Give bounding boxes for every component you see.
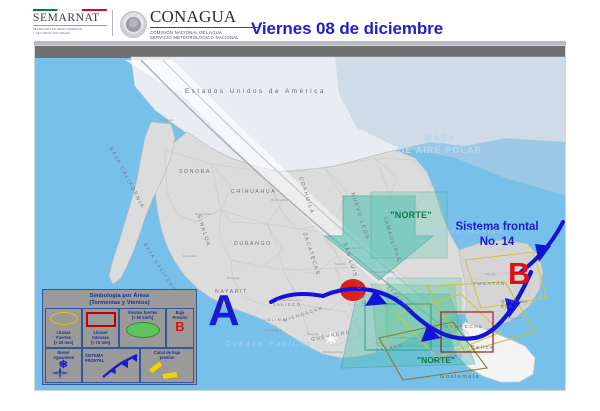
- compass-rose: N: [48, 362, 72, 384]
- legend-li-l3: (> 75 mm): [91, 340, 110, 345]
- page-title: Viernes 08 de diciembre: [251, 19, 443, 39]
- wind-area-veracruz: [387, 278, 461, 338]
- conagua-subtitle-2: SERVICIO METEOROLÓGICO NACIONAL: [150, 35, 258, 40]
- mexican-flag-stripe-icon: [33, 9, 107, 11]
- semarnat-rule: [33, 25, 107, 26]
- city-label-guadalajara: Guadalajara: [263, 328, 282, 332]
- city-label-culiacan: Culiacán: [183, 254, 197, 258]
- semarnat-subtitle-1: SECRETARÍA DE MEDIO AMBIENTE: [33, 28, 107, 31]
- city-label-aguascalientes: Aguascalientes: [277, 298, 301, 302]
- legend-item-canal-baja-presion[interactable]: Canal de baja presión: [140, 348, 194, 383]
- header-divider: [112, 10, 113, 36]
- low-pressure-b-icon: B: [167, 320, 193, 333]
- legend-item-baja-presion[interactable]: Baja Presión B: [166, 308, 194, 348]
- city-label-monterrey: Monterrey: [347, 246, 363, 250]
- heavy-rain-ellipse-icon: [50, 312, 78, 325]
- state-label-quintana-roo: QUINTANA ROO: [501, 299, 533, 309]
- frontal-system-line2: No. 14: [480, 236, 515, 248]
- page-header: SEMARNAT SECRETARÍA DE MEDIO AMBIENTE Y …: [0, 0, 600, 46]
- conagua-logo: CONAGUA COMISIÓN NACIONAL DEL AGUA SERVI…: [150, 8, 258, 40]
- city-label-chilpancingo: Chilpancingo: [323, 350, 343, 354]
- strong-wind-ellipse-icon: [126, 322, 160, 338]
- country-label-estados-unidos: Estados Unidos de América: [185, 88, 326, 95]
- state-label-campeche: CAMPECHE: [445, 324, 484, 329]
- coat-of-arms-inner: [126, 17, 141, 32]
- legend-item-lluvias-intensas[interactable]: Lluvias Intensas (> 75 mm): [82, 308, 119, 348]
- state-label-nayarit: NAYARIT: [215, 289, 248, 295]
- trough-bar-icon-1: [149, 361, 162, 373]
- low-pressure-symbol: B: [508, 258, 530, 289]
- conagua-rule: [150, 27, 258, 28]
- legend-item-vientos-fuertes[interactable]: Vientos fuertes (> 50 km/h): [119, 308, 166, 348]
- country-label-guatemala: Guatemala: [440, 374, 480, 380]
- state-label-durango: DURANGO: [234, 241, 272, 247]
- city-label-merida: Mérida: [485, 272, 496, 276]
- city-label-campeche: Campeche: [441, 312, 458, 316]
- legend-caption-lluvias-intensas: Lluvias Intensas (> 75 mm): [83, 330, 118, 345]
- state-label-jalisco: JALISCO: [273, 302, 302, 307]
- legend-title-line2: (Tormentas y Vientos): [89, 300, 149, 306]
- compass-rose-icon: [48, 366, 72, 380]
- cold-front-line-icon: [101, 353, 139, 381]
- high-pressure-symbol: A: [208, 289, 240, 333]
- city-label-chetumal: Chetumal: [507, 316, 522, 320]
- legend-caption-canal-baja-presion: Canal de baja presión: [141, 349, 193, 360]
- legend-caption-vientos-fuertes: Vientos fuertes (> 50 km/h): [120, 309, 165, 320]
- semarnat-wordmark: SEMARNAT: [33, 12, 107, 24]
- legend-title: Simbología por Áreas (Tormentas y Viento…: [43, 290, 196, 307]
- country-label-belice: Belice: [471, 345, 495, 351]
- intense-rain-rectangle-icon: [86, 312, 116, 327]
- city-label-saltillo: Saltillo: [335, 262, 346, 266]
- conagua-wordmark: CONAGUA: [150, 8, 258, 26]
- mexican-coat-of-arms-icon: [120, 11, 147, 38]
- legend-cb-l2: presión: [160, 355, 175, 360]
- legend-vf-l2: (> 50 km/h): [132, 315, 154, 320]
- semarnat-logo: SEMARNAT SECRETARÍA DE MEDIO AMBIENTE Y …: [33, 12, 107, 34]
- city-label-hermosillo: Hermosillo: [195, 212, 212, 216]
- city-label-morelia: Morelia: [307, 332, 319, 336]
- city-label-chihuahua: Chihuahua: [271, 198, 288, 202]
- trough-bar-icon-2: [163, 372, 177, 378]
- state-label-chihuahua: CHIHUAHUA: [231, 189, 276, 195]
- weather-map[interactable]: MASA DE AIRE POLAR Sistema frontal No. 1…: [34, 45, 566, 391]
- map-legend[interactable]: Simbología por Áreas (Tormentas y Viento…: [42, 289, 197, 385]
- state-label-yucatan: YUCATÁN: [473, 281, 506, 286]
- polar-air-mass-label: MASA DE AIRE POLAR: [380, 132, 500, 156]
- legend-lf-l3: (> 25 mm): [54, 340, 73, 345]
- city-label-oaxaca: Oaxaca: [387, 364, 399, 368]
- legend-item-sistema-frontal[interactable]: SISTEMA FRONTAL: [82, 348, 140, 383]
- legend-item-lluvias-fuertes[interactable]: Lluvias Fuertes (> 25 mm): [45, 308, 82, 348]
- frontal-system-label: Sistema frontal No. 14: [427, 220, 566, 250]
- sea-label-golfo-de-mexico: Golfo de México: [417, 226, 504, 235]
- semarnat-subtitle-2: Y RECURSOS NATURALES: [33, 32, 107, 35]
- weather-bulletin-page: SEMARNAT SECRETARÍA DE MEDIO AMBIENTE Y …: [0, 0, 600, 411]
- legend-caption-lluvias-fuertes: Lluvias Fuertes (> 25 mm): [46, 330, 81, 345]
- polar-air-mass-line1: MASA: [425, 133, 456, 143]
- sea-label-oceano-pacifico: Océano Pacífico: [225, 339, 313, 348]
- city-label-durango: Durango: [227, 276, 240, 280]
- state-label-sonora: SONORA: [179, 169, 211, 175]
- city-label-ciudad-victoria: Ciudad Victoria: [371, 270, 395, 274]
- legend-title-line1: Simbología por Áreas: [90, 293, 150, 299]
- city-label-mexicali: Mexicali: [161, 118, 174, 122]
- polar-air-mass-line2: DE AIRE POLAR: [398, 145, 482, 155]
